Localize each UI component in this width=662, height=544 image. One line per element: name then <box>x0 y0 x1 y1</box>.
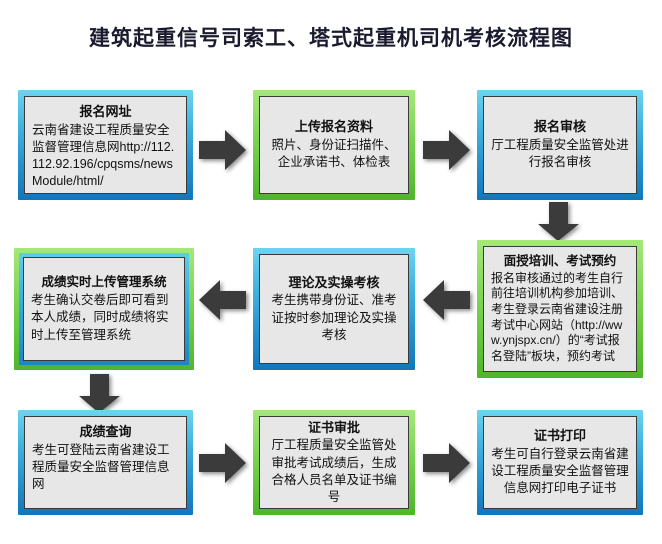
arrow-right-icon <box>199 441 247 485</box>
node-heading: 报名网址 <box>32 103 179 121</box>
flow-node-upload-materials[interactable]: 上传报名资料 照片、身份证扫描件、企业承诺书、体检表 <box>253 90 415 200</box>
arrow-url-to-upload <box>199 128 247 172</box>
node-heading: 理论及实操考核 <box>267 274 401 292</box>
arrow-right-icon <box>199 128 247 172</box>
node-body: 云南省建设工程质量安全监督管理信息网http://112.112.92.196/… <box>32 122 179 191</box>
arrow-query-to-approval <box>199 441 247 485</box>
node-body: 照片、身份证扫描件、企业承诺书、体检表 <box>267 137 401 172</box>
arrow-score-upload-to-query <box>78 374 122 414</box>
node-body: 考生携带身份证、准考证按时参加理论及实操考核 <box>267 292 401 344</box>
node-heading: 证书审批 <box>267 419 401 437</box>
node-heading: 成绩查询 <box>32 423 179 441</box>
arrow-left-icon <box>199 278 247 322</box>
flow-node-certificate-approval[interactable]: 证书审批 厅工程质量安全监管处审批考试成绩后，生成合格人员名单及证书编号 <box>253 410 415 515</box>
flow-node-registration-url[interactable]: 报名网址 云南省建设工程质量安全监督管理信息网http://112.112.92… <box>18 90 193 200</box>
arrow-exam-to-score-upload <box>199 278 247 322</box>
arrow-upload-to-review <box>423 128 471 172</box>
arrow-down-icon <box>537 202 581 242</box>
node-heading: 成绩实时上传管理系统 <box>31 274 177 291</box>
page-title: 建筑起重信号司索工、塔式起重机司机考核流程图 <box>0 22 662 52</box>
node-body: 厅工程质量安全监管处进行报名审核 <box>491 137 629 172</box>
arrow-left-icon <box>423 278 471 322</box>
arrow-training-to-exam <box>423 278 471 322</box>
arrow-approval-to-printing <box>423 441 471 485</box>
node-heading: 面授培训、考试预约 <box>491 253 629 270</box>
arrow-right-icon <box>423 441 471 485</box>
node-body: 考生确认交卷后即可看到本人成绩，同时成绩将实时上传至管理系统 <box>31 292 177 344</box>
flow-node-registration-review[interactable]: 报名审核 厅工程质量安全监管处进行报名审核 <box>477 90 643 200</box>
node-heading: 上传报名资料 <box>267 118 401 136</box>
node-body: 厅工程质量安全监管处审批考试成绩后，生成合格人员名单及证书编号 <box>267 437 401 506</box>
arrow-down-icon <box>78 374 122 414</box>
flow-node-score-query[interactable]: 成绩查询 考生可登陆云南省建设工程质量安全监督管理信息网 <box>18 410 193 515</box>
arrow-review-to-training <box>537 202 581 242</box>
node-body: 考生可登陆云南省建设工程质量安全监督管理信息网 <box>32 442 179 494</box>
flow-node-realtime-score-upload[interactable]: 成绩实时上传管理系统 考生确认交卷后即可看到本人成绩，同时成绩将实时上传至管理系… <box>14 248 194 370</box>
arrow-right-icon <box>423 128 471 172</box>
node-body: 考生可自行登录云南省建设工程质量安全监督管理信息网打印电子证书 <box>491 446 629 498</box>
flow-node-training-and-exam-booking[interactable]: 面授培训、考试预约 报名审核通过的考生自行前往培训机构参加培训、考生登录云南省建… <box>477 240 643 378</box>
flow-node-certificate-printing[interactable]: 证书打印 考生可自行登录云南省建设工程质量安全监督管理信息网打印电子证书 <box>477 410 643 515</box>
node-heading: 证书打印 <box>491 427 629 445</box>
flow-node-theory-and-practical-exam[interactable]: 理论及实操考核 考生携带身份证、准考证按时参加理论及实操考核 <box>253 248 415 370</box>
node-heading: 报名审核 <box>491 118 629 136</box>
node-body: 报名审核通过的考生自行前往培训机构参加培训、考生登录云南省建设注册考试中心网站（… <box>491 271 629 365</box>
flowchart-page: 建筑起重信号司索工、塔式起重机司机考核流程图 报名网址 云南省建设工程质量安全监… <box>0 0 662 544</box>
